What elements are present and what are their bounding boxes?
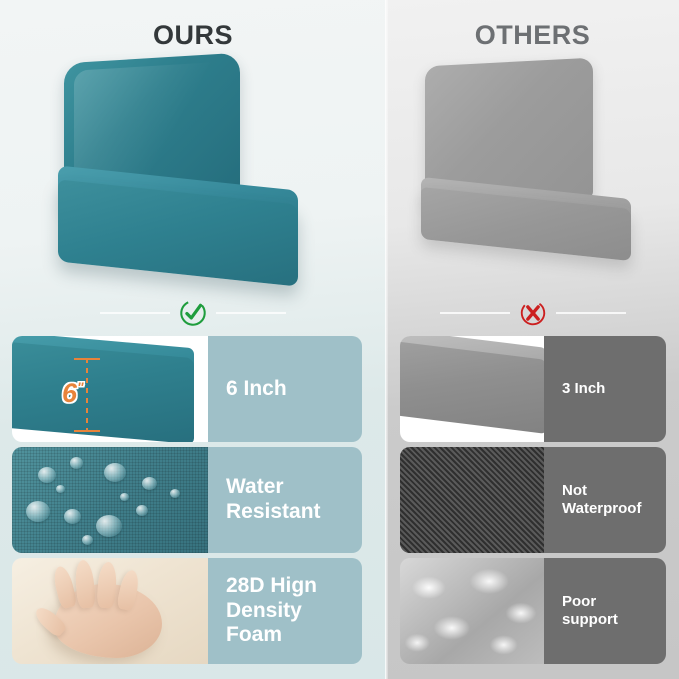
water-droplet — [56, 485, 65, 493]
others-foam-image — [400, 558, 544, 664]
verdict-rule-right — [556, 312, 626, 314]
ours-water-image — [12, 447, 208, 553]
others-feature-card-foam: Poor support — [400, 558, 666, 664]
callout-unit: " — [77, 379, 84, 395]
others-foam-label-panel: Poor support — [544, 558, 666, 664]
ours-hero-image — [48, 52, 338, 292]
water-droplet — [64, 509, 81, 524]
verdict-rule-left — [440, 312, 510, 314]
ours-foam-image — [12, 558, 208, 664]
water-droplet — [136, 505, 148, 516]
ours-verdict-row — [0, 296, 386, 330]
water-droplet — [104, 463, 126, 482]
water-droplet — [38, 467, 56, 483]
ours-feature-card-foam: 28D Hign Density Foam — [12, 558, 362, 664]
ours-foam-label: 28D Hign Density Foam — [226, 574, 362, 648]
check-circle-icon — [178, 298, 208, 328]
others-water-label: Not Waterproof — [562, 482, 641, 517]
water-droplet — [142, 477, 157, 490]
others-heading: OTHERS — [386, 20, 679, 51]
ours-feature-card-water: Water Resistant — [12, 447, 362, 553]
ours-thickness-label-panel: 6 Inch — [208, 336, 362, 442]
others-water-label-panel: Not Waterproof — [544, 447, 666, 553]
others-verdict-row — [386, 296, 679, 330]
ours-thickness-image: 6" — [12, 336, 208, 442]
ours-foam-label-panel: 28D Hign Density Foam — [208, 558, 362, 664]
water-droplet — [96, 515, 122, 537]
ours-feature-card-thickness: 6" 6 Inch — [12, 336, 362, 442]
column-divider — [385, 0, 388, 679]
water-droplet — [70, 457, 83, 469]
water-droplet — [120, 493, 129, 501]
dimension-callout: 6" — [62, 378, 84, 409]
cross-circle-icon — [518, 298, 548, 328]
ours-water-label-panel: Water Resistant — [208, 447, 362, 553]
others-water-image — [400, 447, 544, 553]
others-feature-card-water: Not Waterproof — [400, 447, 666, 553]
others-thickness-image — [400, 336, 544, 442]
ours-water-label: Water Resistant — [226, 475, 321, 525]
ours-thickness-label: 6 Inch — [226, 377, 287, 402]
others-thickness-label-panel: 3 Inch — [544, 336, 666, 442]
others-thickness-label: 3 Inch — [562, 380, 605, 398]
water-droplet — [170, 489, 180, 498]
verdict-rule-left — [100, 312, 170, 314]
water-droplet — [82, 535, 93, 545]
verdict-rule-right — [216, 312, 286, 314]
water-droplet — [26, 501, 50, 522]
ours-heading: OURS — [0, 20, 386, 51]
dimension-line — [86, 358, 88, 432]
callout-value: 6 — [62, 378, 77, 408]
comparison-infographic: OURS OTHERS — [0, 0, 679, 679]
others-foam-label: Poor support — [562, 593, 618, 628]
others-feature-card-thickness: 3 Inch — [400, 336, 666, 442]
others-hero-image — [415, 52, 650, 292]
